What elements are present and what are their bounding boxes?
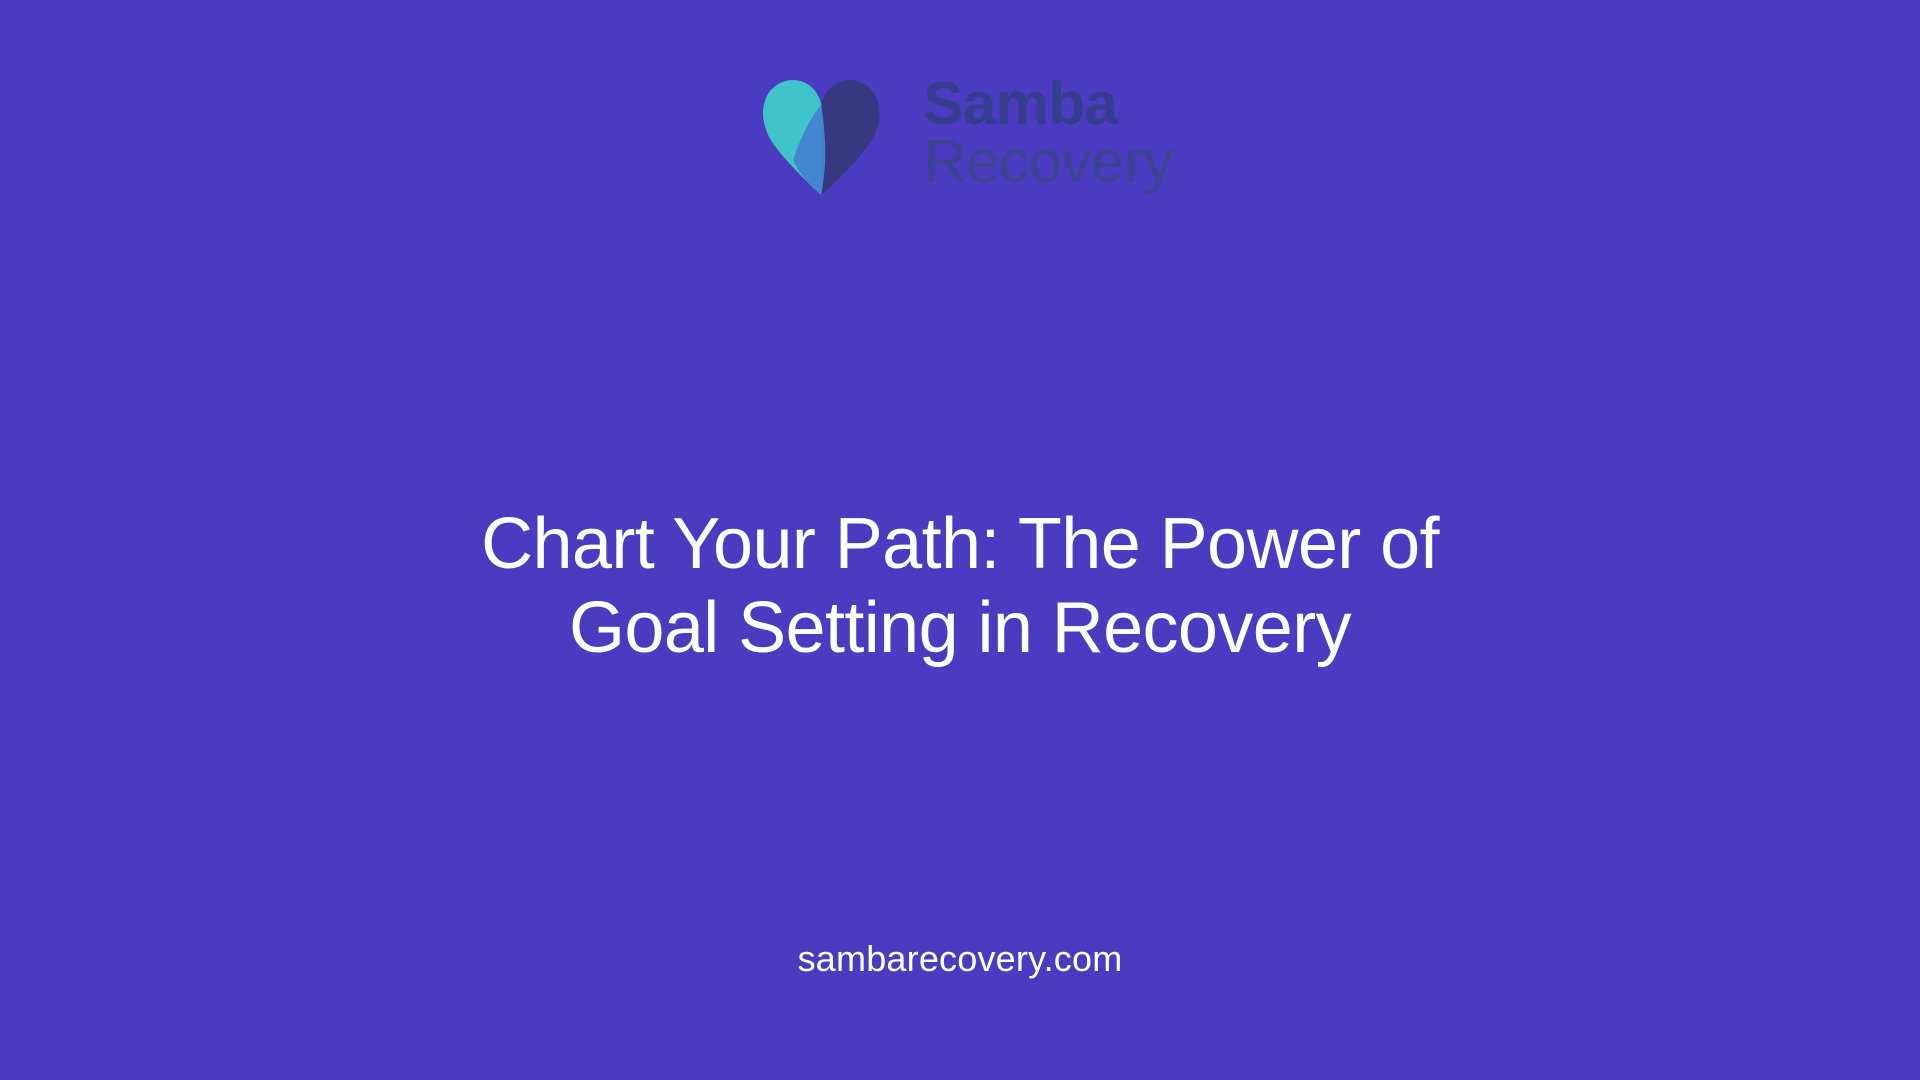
page-title-line-1: Chart Your Path: The Power of [210,503,1710,587]
brand-wordmark-primary: Samba [923,75,1172,133]
brand-wordmark: Samba Recovery [923,75,1172,190]
brand-wordmark-secondary: Recovery [923,133,1172,191]
footer-website-url[interactable]: sambarecovery.com [798,938,1123,980]
page-title: Chart Your Path: The Power of Goal Setti… [210,503,1710,670]
page-title-line-2: Goal Setting in Recovery [210,587,1710,671]
brand-lockup: Samba Recovery [747,62,1172,202]
social-share-card: Samba Recovery Chart Your Path: The Powe… [0,0,1920,1080]
samba-recovery-split-heart-logo-icon [747,62,897,202]
